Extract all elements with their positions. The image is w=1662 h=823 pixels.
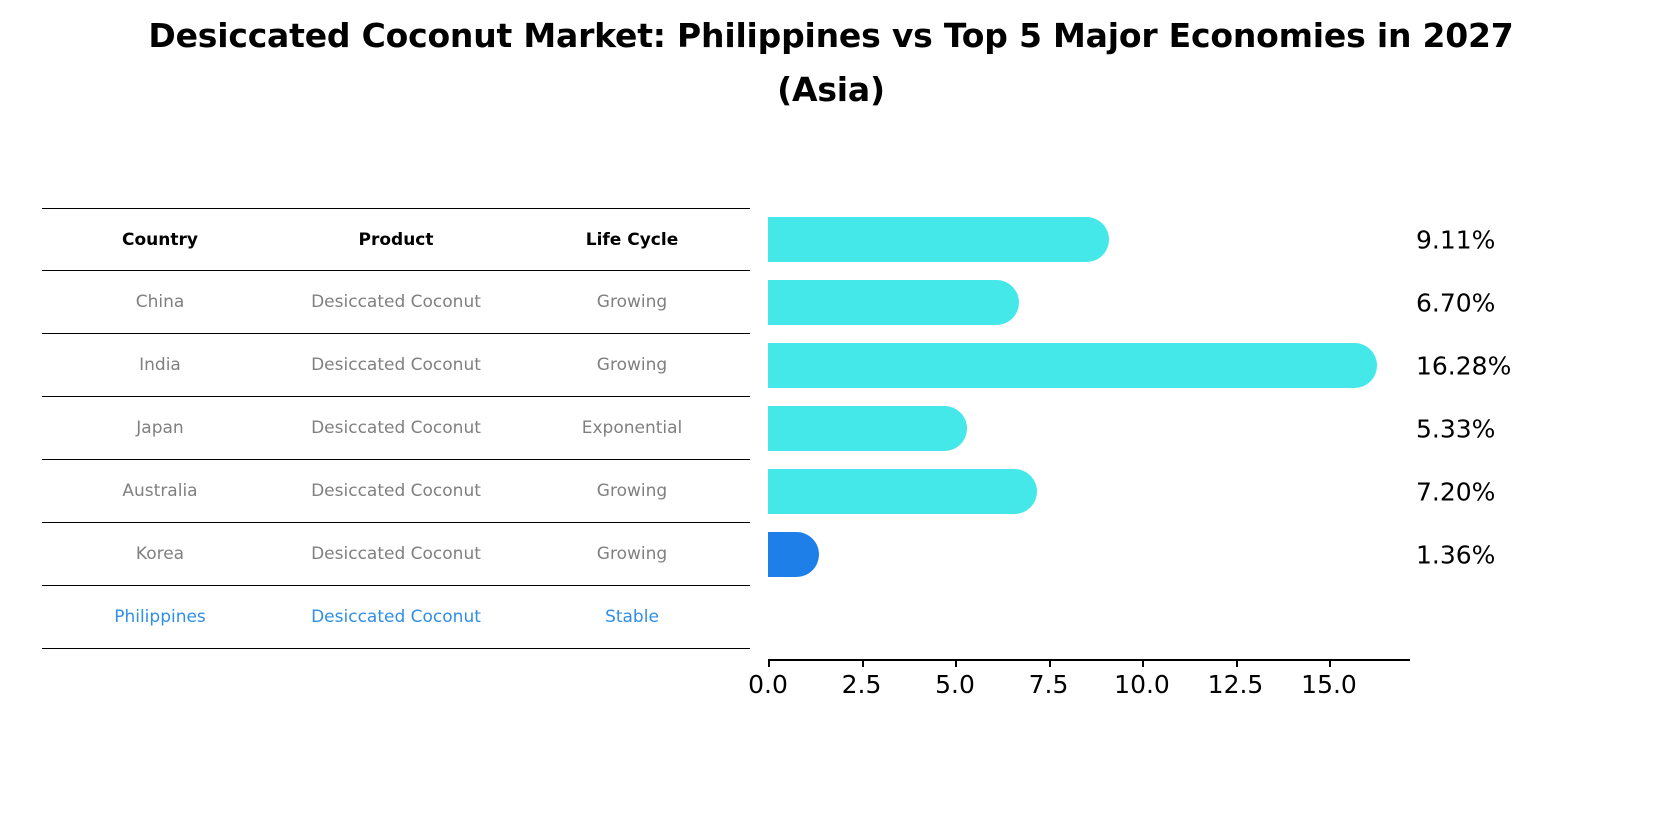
- bar-china: [768, 217, 1109, 262]
- bar-india: [768, 280, 1019, 325]
- x-tick-label: 5.0: [935, 670, 975, 699]
- bar-row: 7.20%: [768, 460, 1410, 523]
- x-tick: [1236, 659, 1238, 667]
- x-tick: [862, 659, 864, 667]
- x-tick: [1142, 659, 1144, 667]
- x-tick-label: 10.0: [1114, 670, 1170, 699]
- cell-product: Desiccated Coconut: [278, 460, 514, 523]
- bar-value-label: 6.70%: [1416, 288, 1495, 317]
- cell-product: Desiccated Coconut: [278, 397, 514, 460]
- bar-row: 6.70%: [768, 271, 1410, 334]
- table-row: PhilippinesDesiccated CoconutStable: [42, 586, 750, 649]
- cell-life-cycle: Growing: [514, 334, 750, 397]
- bar-value-label: 7.20%: [1416, 477, 1495, 506]
- x-axis-line: [768, 659, 1410, 661]
- cell-country: Philippines: [42, 586, 278, 649]
- plot-area: 9.11%6.70%16.28%5.33%7.20%1.36%: [768, 208, 1410, 658]
- x-tick-label: 15.0: [1301, 670, 1357, 699]
- cell-country: Japan: [42, 397, 278, 460]
- cell-life-cycle: Growing: [514, 460, 750, 523]
- bar-australia: [768, 406, 967, 451]
- x-tick-label: 12.5: [1208, 670, 1264, 699]
- x-tick: [1049, 659, 1051, 667]
- table: Country Product Life Cycle ChinaDesiccat…: [42, 208, 750, 649]
- chart-title-line-1: Desiccated Coconut Market: Philippines v…: [0, 8, 1662, 64]
- cell-country: Australia: [42, 460, 278, 523]
- bar-korea: [768, 469, 1037, 514]
- table-row: JapanDesiccated CoconutExponential: [42, 397, 750, 460]
- cell-country: Korea: [42, 523, 278, 586]
- chart-title: Desiccated Coconut Market: Philippines v…: [0, 8, 1662, 116]
- cell-product: Desiccated Coconut: [278, 523, 514, 586]
- column-header-product: Product: [278, 209, 514, 271]
- table-row: AustraliaDesiccated CoconutGrowing: [42, 460, 750, 523]
- cell-product: Desiccated Coconut: [278, 334, 514, 397]
- bar-row: 16.28%: [768, 334, 1410, 397]
- cell-country: India: [42, 334, 278, 397]
- bar-japan: [768, 343, 1377, 388]
- x-tick: [955, 659, 957, 667]
- bar-row: 1.36%: [768, 523, 1410, 586]
- bar-philippines: [768, 532, 819, 577]
- cell-life-cycle: Exponential: [514, 397, 750, 460]
- column-header-country: Country: [42, 209, 278, 271]
- cell-life-cycle: Stable: [514, 586, 750, 649]
- country-table: Country Product Life Cycle ChinaDesiccat…: [42, 208, 750, 658]
- column-header-life-cycle: Life Cycle: [514, 209, 750, 271]
- x-tick: [768, 659, 770, 667]
- cell-life-cycle: Growing: [514, 271, 750, 334]
- bar-row: 5.33%: [768, 397, 1410, 460]
- x-tick-label: 2.5: [842, 670, 882, 699]
- table-head: Country Product Life Cycle: [42, 209, 750, 271]
- cell-product: Desiccated Coconut: [278, 271, 514, 334]
- table-row: KoreaDesiccated CoconutGrowing: [42, 523, 750, 586]
- x-tick-label: 0.0: [748, 670, 788, 699]
- bar-value-label: 5.33%: [1416, 414, 1495, 443]
- bar-value-label: 16.28%: [1416, 351, 1511, 380]
- x-tick-label: 7.5: [1029, 670, 1069, 699]
- bar-chart-plot: 9.11%6.70%16.28%5.33%7.20%1.36%: [768, 208, 1410, 658]
- chart-figure: Desiccated Coconut Market: Philippines v…: [0, 0, 1662, 823]
- bar-row: 9.11%: [768, 208, 1410, 271]
- x-tick: [1329, 659, 1331, 667]
- table-body: ChinaDesiccated CoconutGrowingIndiaDesic…: [42, 271, 750, 649]
- table-row: IndiaDesiccated CoconutGrowing: [42, 334, 750, 397]
- cell-product: Desiccated Coconut: [278, 586, 514, 649]
- cell-country: China: [42, 271, 278, 334]
- chart-title-line-2: (Asia): [0, 64, 1662, 116]
- bar-value-label: 1.36%: [1416, 540, 1495, 569]
- table-row: ChinaDesiccated CoconutGrowing: [42, 271, 750, 334]
- table-header-row: Country Product Life Cycle: [42, 209, 750, 271]
- cell-life-cycle: Growing: [514, 523, 750, 586]
- bar-value-label: 9.11%: [1416, 225, 1495, 254]
